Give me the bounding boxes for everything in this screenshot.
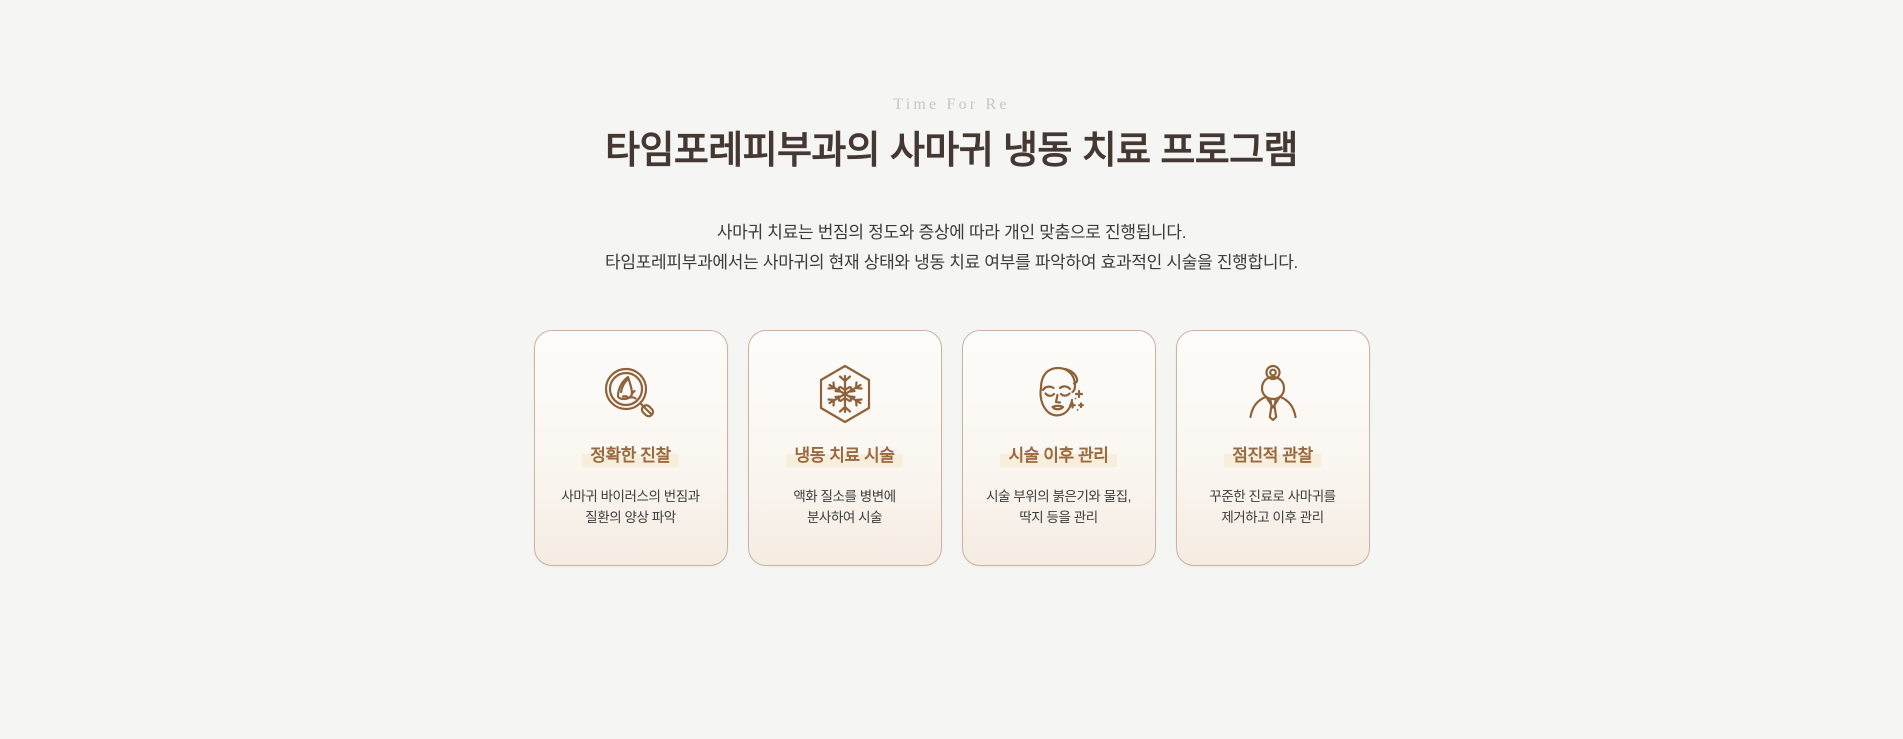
doctor-icon [1241,357,1305,431]
feature-card-cryotherapy[interactable]: 냉동 치료 시술 액화 질소를 병변에 분사하여 시술 [748,330,942,566]
face-aftercare-icon [1027,357,1091,431]
card-title: 냉동 치료 시술 [794,446,894,465]
card-description-line-2: 제거하고 이후 관리 [1209,507,1335,529]
card-description-line-2: 질환의 양상 파악 [561,507,699,529]
card-description-line-1: 시술 부위의 붉은기와 물집, [986,486,1131,508]
card-title-highlight: 냉동 치료 시술 [786,445,902,468]
card-description-line-1: 액화 질소를 병변에 [793,486,895,508]
card-title-highlight: 시술 이후 관리 [1000,445,1116,468]
feature-card-aftercare[interactable]: 시술 이후 관리 시술 부위의 붉은기와 물집, 딱지 등을 관리 [962,330,1156,566]
card-title: 시술 이후 관리 [1008,446,1108,465]
card-description: 꾸준한 진료로 사마귀를 제거하고 이후 관리 [1209,486,1335,530]
promo-section: Time For Re 타임포레피부과의 사마귀 냉동 치료 프로그램 사마귀 … [0,0,1903,739]
snowflake-hexagon-icon [813,357,877,431]
card-title: 정확한 진찰 [590,446,671,465]
description-line-2: 타임포레피부과에서는 사마귀의 현재 상태와 냉동 치료 여부를 파악하여 효과… [605,248,1298,278]
feature-card-list: 정확한 진찰 사마귀 바이러스의 번짐과 질환의 양상 파악 [534,330,1370,566]
page-title: 타임포레피부과의 사마귀 냉동 치료 프로그램 [605,128,1298,176]
description-line-1: 사마귀 치료는 번짐의 정도와 증상에 따라 개인 맞춤으로 진행됩니다. [605,218,1298,248]
magnifier-wart-icon [599,357,663,431]
section-eyebrow: Time For Re [893,96,1009,114]
card-title-highlight: 점진적 관찰 [1224,445,1321,468]
card-description: 시술 부위의 붉은기와 물집, 딱지 등을 관리 [986,486,1131,530]
card-description: 액화 질소를 병변에 분사하여 시술 [793,486,895,530]
card-title-highlight: 정확한 진찰 [582,445,679,468]
card-description-line-1: 사마귀 바이러스의 번짐과 [561,486,699,508]
card-description-line-2: 딱지 등을 관리 [986,507,1131,529]
card-description-line-2: 분사하여 시술 [793,507,895,529]
card-description-line-1: 꾸준한 진료로 사마귀를 [1209,486,1335,508]
feature-card-progressive-observation[interactable]: 점진적 관찰 꾸준한 진료로 사마귀를 제거하고 이후 관리 [1176,330,1370,566]
card-description: 사마귀 바이러스의 번짐과 질환의 양상 파악 [561,486,699,530]
feature-card-accurate-exam[interactable]: 정확한 진찰 사마귀 바이러스의 번짐과 질환의 양상 파악 [534,330,728,566]
section-description: 사마귀 치료는 번짐의 정도와 증상에 따라 개인 맞춤으로 진행됩니다. 타임… [605,218,1298,278]
card-title: 점진적 관찰 [1232,446,1313,465]
